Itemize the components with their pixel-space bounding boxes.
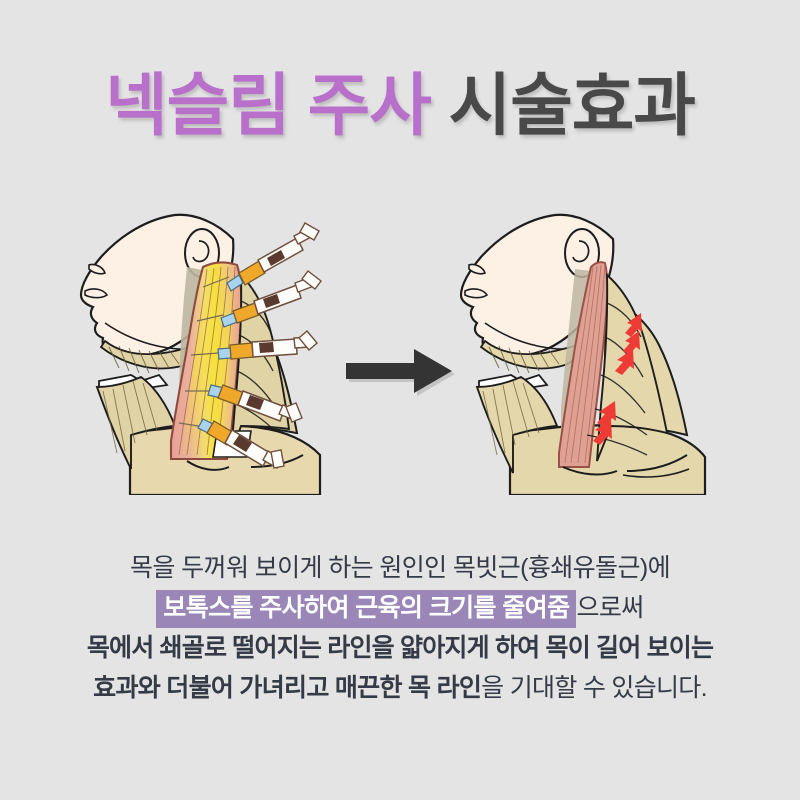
caption-line-2: 보톡스를 주사하여 근육의 크기를 줄여줌으로써 — [0, 596, 800, 621]
caption-line-1: 목을 두꺼워 보이게 하는 원인인 목빗근(흉쇄유돌근)에 — [0, 556, 800, 581]
caption-line-2-tail: 으로써 — [576, 594, 643, 622]
after-illustration — [455, 205, 735, 495]
caption-highlight: 보톡스를 주사하여 근육의 크기를 줄여줌 — [156, 590, 576, 628]
caption-line-3: 목에서 쇄골로 떨어지는 라인을 얇아지게 하여 목이 길어 보이는 — [0, 636, 800, 661]
caption-line-4: 효과와 더불어 가녀리고 매끈한 목 라인을 기대할 수 있습니다. — [0, 676, 800, 701]
caption-block: 목을 두꺼워 보이게 하는 원인인 목빗근(흉쇄유돌근)에 보톡스를 주사하여 … — [0, 556, 800, 701]
infographic-page: { "page": { "background_color": "#e4e4e4… — [0, 0, 800, 800]
caption-line-4-light: 을 기대할 수 있습니다. — [481, 674, 707, 702]
before-illustration — [75, 205, 355, 495]
title-plain-text: 시술효과 — [431, 68, 695, 144]
caption-line-4-bold: 효과와 더불어 가녀리고 매끈한 목 라인 — [93, 674, 481, 702]
right-arrow-icon — [340, 345, 458, 397]
title-highlight-text: 넥슬림 주사 — [105, 68, 431, 144]
illustration-area — [0, 205, 800, 495]
page-title: 넥슬림 주사 시술효과 — [0, 72, 800, 140]
